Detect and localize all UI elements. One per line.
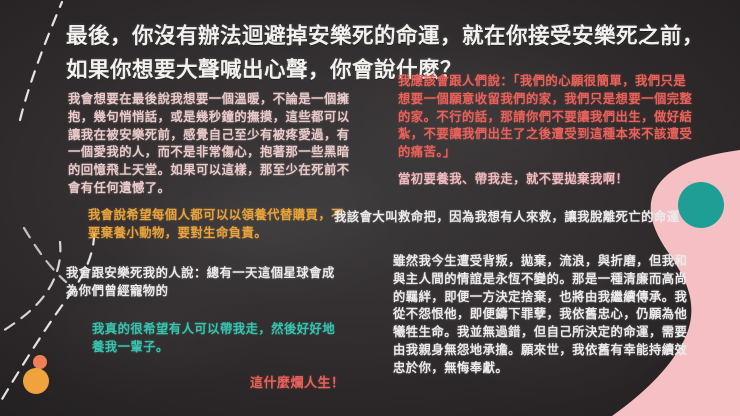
- response-warmth: 我會想要在最後說我想要一個溫暖，不論是一個擁抱，幾句悄悄話，或是幾秒鐘的撫摸，這…: [68, 90, 356, 197]
- dashed-curve-bottom-left-2: [0, 242, 60, 340]
- response-takeme: 我真的很希望有人可以帶我走，然後好好地養我一輩子。: [92, 320, 338, 356]
- response-planet: 我會跟安樂死我的人說：總有一天這個星球會成為你們曾經寵物的: [66, 264, 338, 300]
- dashed-line-top-left: [20, 2, 62, 120]
- orange-dot-small: [33, 355, 47, 369]
- dashed-curve-bottom-left: [0, 226, 94, 416]
- response-whatalife: 這什麼爛人生！: [250, 375, 470, 394]
- response-cry-help: 我該會大叫救命把，因為我想有人來救，讓我脫離死亡的命運: [334, 208, 726, 226]
- response-loyalty: 雖然我今生遭受背叛，拋棄，流浪，與折磨，但我和與主人間的情誼是永恆不變的。那是一…: [393, 252, 693, 377]
- orange-dot-large: [23, 368, 49, 394]
- dashed-curve-bottom-left-3: [24, 228, 66, 282]
- slide-canvas: 最後，你沒有辦法迴避掉安樂死的命運，就在你接受安樂死之前，如果你想要大聲喊出心聲…: [0, 0, 740, 416]
- response-simple-wish: 我應該會跟人們說：「我們的心願很簡單，我們只是想要一個願意收留我們的家，我們只是…: [398, 72, 694, 161]
- response-adopt: 我會說希望每個人都可以以領養代替購買，不要棄養小動物，要對生命負責。: [88, 206, 350, 242]
- response-dont-abandon: 當初要養我、帶我走，就不要拋棄我啊！: [398, 170, 698, 188]
